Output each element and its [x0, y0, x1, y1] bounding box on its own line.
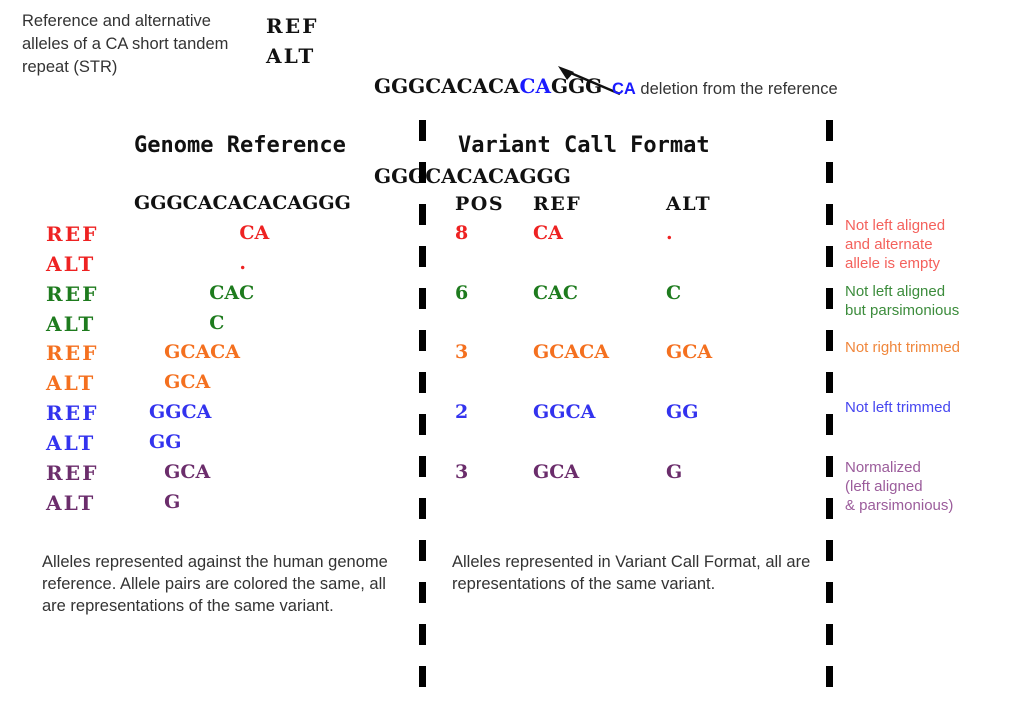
- vcf-cell-pos: 8: [455, 222, 468, 244]
- allele-tag-ref: REF: [46, 222, 99, 246]
- allele-sequence-alt: C: [209, 312, 224, 334]
- intro-caption: Reference and alternative alleles of a C…: [22, 10, 254, 79]
- vcf-column-header-pos: POS: [455, 193, 504, 215]
- allele-tag-alt: ALT: [46, 371, 95, 395]
- annotation-orange: Not right trimmed: [845, 338, 1023, 357]
- vcf-cell-pos: 3: [455, 461, 468, 483]
- allele-row-ref-red: REFCA: [0, 222, 419, 252]
- vcf-cell-alt: .: [666, 222, 673, 244]
- vcf-caption: Alleles represented in Variant Call Form…: [452, 551, 822, 595]
- column-divider-left: [419, 120, 426, 692]
- vcf-cell-pos: 6: [455, 282, 468, 304]
- vcf-row: 6CACC: [440, 282, 826, 312]
- diagram-canvas: Reference and alternative alleles of a C…: [0, 0, 1023, 720]
- vcf-cell-alt: GG: [666, 401, 698, 423]
- variant-call-format-title: Variant Call Format: [458, 133, 710, 158]
- vcf-cell-alt: GCA: [666, 341, 712, 363]
- annotation-line: and alternate: [845, 235, 1023, 254]
- allele-row-ref-purple: REFGCA: [0, 461, 419, 491]
- annotation-purple: Normalized(left aligned& parsimonious): [845, 458, 1023, 515]
- deletion-annotation-text: deletion from the reference: [636, 80, 838, 98]
- genome-reference-caption: Alleles represented against the human ge…: [42, 551, 402, 617]
- allele-sequence-alt: G: [164, 491, 180, 513]
- annotation-line: (left aligned: [845, 477, 1023, 496]
- vcf-row: 3GCACAGCA: [440, 341, 826, 371]
- allele-tag-alt: ALT: [46, 431, 95, 455]
- annotation-line: Not left aligned: [845, 216, 1023, 235]
- allele-sequence-alt: .: [239, 252, 246, 274]
- allele-row-ref-blue: REFGGCA: [0, 401, 419, 431]
- allele-sequence-ref: GCA: [164, 461, 210, 483]
- allele-tag-ref: REF: [46, 401, 99, 425]
- allele-sequence-ref: CA: [239, 222, 269, 244]
- allele-tag-ref: REF: [46, 282, 99, 306]
- deletion-annotation: CA deletion from the reference: [612, 80, 838, 99]
- intro-ref-sequence-deleted-bases: CA: [520, 74, 551, 98]
- vcf-cell-ref: CA: [533, 222, 563, 244]
- vcf-row: 8CA.: [440, 222, 826, 252]
- annotation-line: Not right trimmed: [845, 338, 1023, 357]
- vcf-cell-alt: G: [666, 461, 682, 483]
- vcf-cell-ref: CAC: [533, 282, 578, 304]
- annotation-green: Not left alignedbut parsimonious: [845, 282, 1023, 320]
- intro-ref-label: REF: [266, 11, 319, 41]
- annotation-line: allele is empty: [845, 254, 1023, 273]
- vcf-cell-ref: GGCA: [533, 401, 595, 423]
- vcf-column-header-ref: REF: [533, 193, 581, 215]
- allele-row-alt-blue: ALTGG: [0, 431, 419, 461]
- annotation-red: Not left alignedand alternateallele is e…: [845, 216, 1023, 273]
- vcf-row: 2GGCAGG: [440, 401, 826, 431]
- allele-tag-ref: REF: [46, 341, 99, 365]
- allele-sequence-alt: GG: [149, 431, 181, 453]
- annotation-line: Not left trimmed: [845, 398, 1023, 417]
- intro-alt-label: ALT: [266, 41, 319, 71]
- vcf-column-header-alt: ALT: [666, 193, 711, 215]
- vcf-cell-alt: C: [666, 282, 681, 304]
- vcf-cell-pos: 3: [455, 341, 468, 363]
- allele-row-alt-green: ALTC: [0, 312, 419, 342]
- allele-row-ref-green: REFCAC: [0, 282, 419, 312]
- allele-sequence-ref: GCACA: [164, 341, 240, 363]
- allele-row-alt-orange: ALTGCA: [0, 371, 419, 401]
- allele-tag-alt: ALT: [46, 312, 95, 336]
- intro-alt-sequence: GGGCACACAGGG: [374, 161, 602, 191]
- deletion-annotation-bases: CA: [612, 80, 636, 98]
- annotation-blue: Not left trimmed: [845, 398, 1023, 417]
- intro-allele-sequences: GGGCACACACAGGG GGGCACACAGGG: [374, 11, 602, 251]
- allele-tag-alt: ALT: [46, 252, 95, 276]
- vcf-cell-ref: GCACA: [533, 341, 609, 363]
- allele-sequence-ref: CAC: [209, 282, 254, 304]
- intro-allele-labels: REF ALT: [266, 11, 319, 71]
- allele-tag-alt: ALT: [46, 491, 95, 515]
- genome-reference-title: Genome Reference: [134, 133, 346, 158]
- allele-sequence-alt: GCA: [164, 371, 210, 393]
- vcf-cell-ref: GCA: [533, 461, 579, 483]
- column-divider-right: [826, 120, 833, 692]
- allele-row-ref-orange: REFGCACA: [0, 341, 419, 371]
- allele-tag-ref: REF: [46, 461, 99, 485]
- allele-row-alt-purple: ALTG: [0, 491, 419, 521]
- allele-sequence-ref: GGCA: [149, 401, 211, 423]
- allele-row-alt-red: ALT.: [0, 252, 419, 282]
- annotation-line: but parsimonious: [845, 301, 1023, 320]
- intro-ref-sequence-prefix: GGGCACACA: [374, 74, 520, 98]
- genome-reference-sequence: GGGCACACACAGGG: [134, 192, 351, 214]
- vcf-row: 3GCAG: [440, 461, 826, 491]
- annotation-line: Normalized: [845, 458, 1023, 477]
- vcf-cell-pos: 2: [455, 401, 468, 423]
- annotation-line: Not left aligned: [845, 282, 1023, 301]
- annotation-line: & parsimonious): [845, 496, 1023, 515]
